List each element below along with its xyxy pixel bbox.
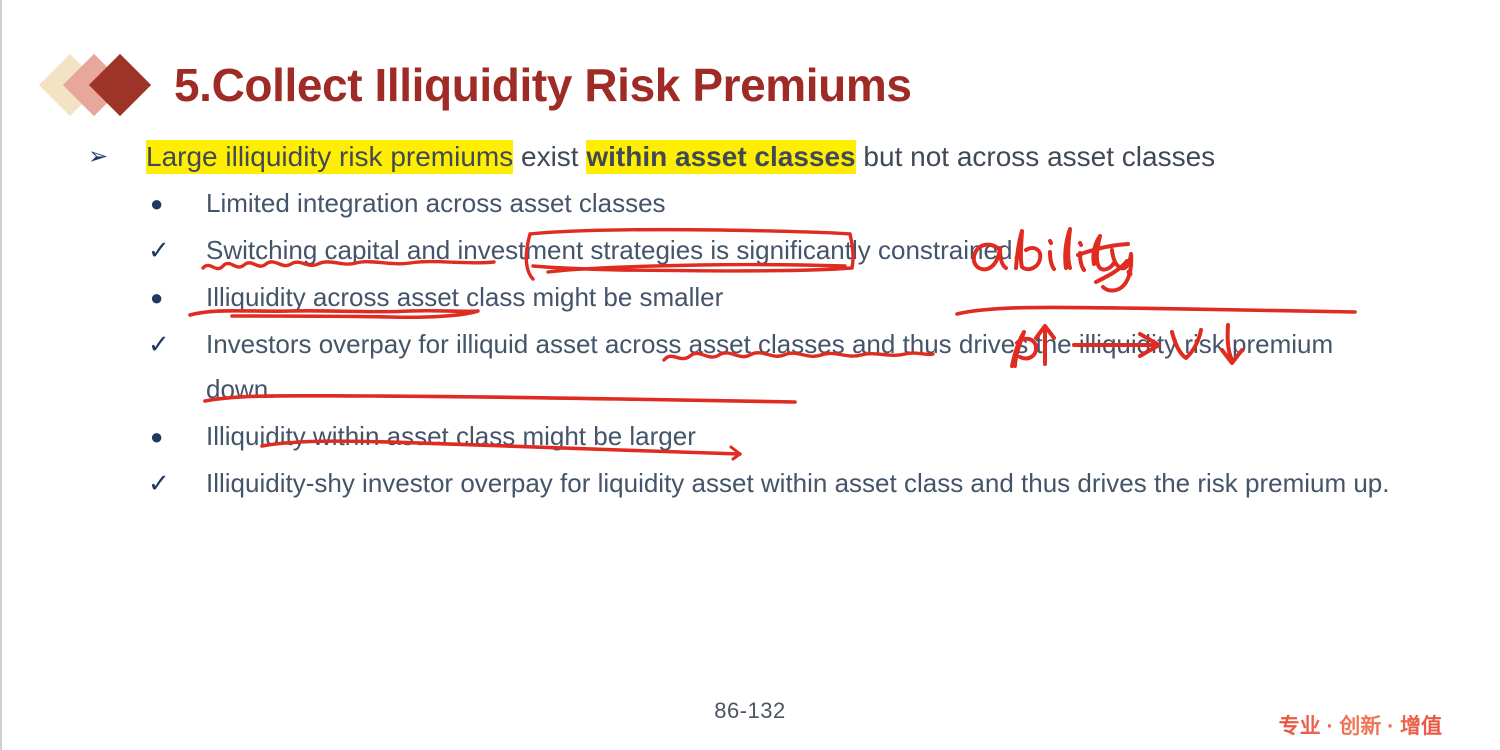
dot-bullet-icon: ● [150, 275, 184, 320]
list-item: ✓Switching capital and investment strate… [88, 228, 1408, 273]
list-item-label: Investors overpay for illiquid asset acr… [206, 329, 1333, 404]
lead-highlight-1: Large illiquidity risk premiums [146, 140, 513, 174]
list-item-label: Illiquidity-shy investor overpay for liq… [206, 468, 1390, 498]
list-item: ●Limited integration across asset classe… [88, 181, 1408, 226]
dot-bullet-icon: ● [150, 181, 184, 226]
check-bullet-icon: ✓ [148, 228, 182, 273]
lead-plain-2: but not across asset classes [856, 141, 1216, 172]
dot-bullet-icon: ● [150, 414, 184, 459]
list-item-label: Switching capital and investment strateg… [206, 235, 1020, 265]
list-item: ●Illiquidity within asset class might be… [88, 414, 1408, 459]
check-bullet-icon: ✓ [148, 322, 182, 367]
slide-left-border [0, 0, 2, 750]
page-number: 86-132 [0, 698, 1500, 724]
list-item: ✓Illiquidity-shy investor overpay for li… [88, 461, 1408, 506]
brand-slogan: 专业 · 创新 · 增值 [1279, 710, 1442, 740]
lead-plain-1: exist [513, 141, 586, 172]
list-item: ●Illiquidity across asset class might be… [88, 275, 1408, 320]
slide-canvas: 5.Collect Illiquidity Risk Premiums ➢Lar… [0, 0, 1500, 750]
check-bullet-icon: ✓ [148, 461, 182, 506]
page-title: 5.Collect Illiquidity Risk Premiums [174, 62, 912, 108]
lead-highlight-bold: within asset classes [586, 140, 855, 174]
list-item-label: Limited integration across asset classes [206, 188, 666, 218]
lead-bullet: ➢Large illiquidity risk premiums exist w… [88, 134, 1408, 179]
slide-body: ➢Large illiquidity risk premiums exist w… [88, 134, 1408, 506]
list-item: ✓Investors overpay for illiquid asset ac… [88, 322, 1408, 412]
arrow-bullet-icon: ➢ [88, 134, 122, 179]
diamond-decoration [48, 54, 166, 116]
slide-title-row: 5.Collect Illiquidity Risk Premiums [48, 48, 912, 122]
list-item-label: Illiquidity across asset class might be … [206, 282, 723, 312]
list-item-label: Illiquidity within asset class might be … [206, 421, 696, 451]
